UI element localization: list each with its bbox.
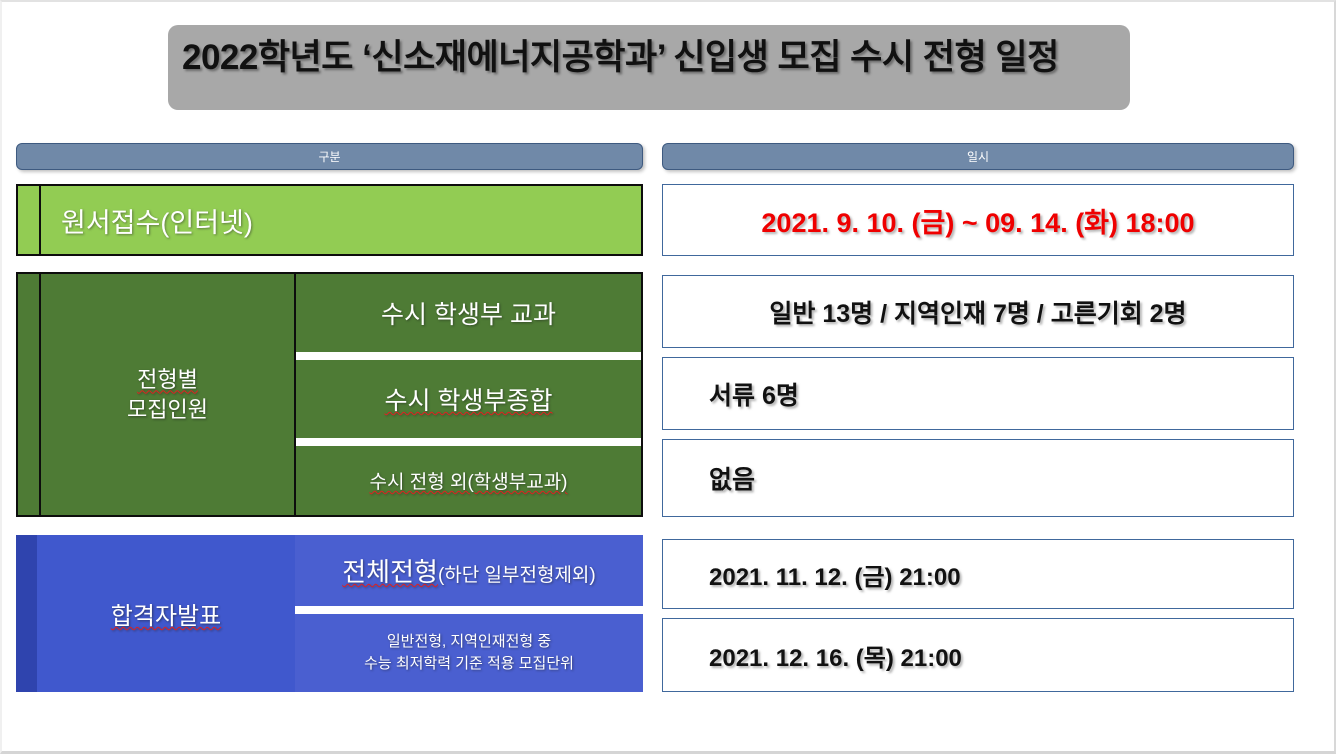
column-header-category: 구분: [16, 143, 643, 170]
slide-title-box: 2022학년도 ‘신소재에너지공학과’ 신입생 모집 수시 전형 일정: [168, 25, 1130, 110]
subrow-quota-susi-jonghap: 수시 학생부종합: [296, 360, 641, 438]
section-application-strip: [18, 186, 41, 254]
subrow-quota-susi-gyogwa: 수시 학생부 교과: [296, 274, 641, 352]
subrow-announce-all-label-note: (하단 일부전형제외): [438, 565, 596, 586]
value-quota-susi-jonghap-text: 서류 6명: [709, 376, 799, 412]
value-quota-susi-gyogwa-text: 일반 13명 / 지역인재 7명 / 고른기회 2명: [769, 294, 1186, 330]
section-announcement-subrows: 전체전형(하단 일부전형제외) 일반전형, 지역인재전형 중 수능 최저학력 기…: [295, 535, 643, 692]
subrow-announce-minimum-csat-line2: 수능 최저학력 기준 적용 모집단위: [364, 653, 574, 675]
column-header-datetime-label: 일시: [967, 148, 989, 165]
section-quota: 전형별 모집인원 수시 학생부 교과 수시 학생부종합 수시 전형 외(학생부교…: [16, 272, 643, 517]
subrow-quota-susi-gyogwa-label: 수시 학생부 교과: [381, 295, 556, 331]
section-announcement-label-text: 합격자발표: [111, 596, 221, 631]
value-announce-all: 2021. 11. 12. (금) 21:00: [662, 539, 1294, 609]
subrow-divider: [296, 352, 641, 360]
section-announcement-label: 합격자발표: [37, 535, 295, 692]
section-quota-strip: [18, 274, 41, 515]
subrow-announce-minimum-csat: 일반전형, 지역인재전형 중 수능 최저학력 기준 적용 모집단위: [295, 614, 643, 692]
subrow-announce-all: 전체전형(하단 일부전형제외): [295, 535, 643, 606]
column-header-datetime: 일시: [662, 143, 1294, 170]
subrow-quota-susi-other-label: 수시 전형 외(학생부교과): [369, 467, 567, 494]
section-quota-label: 전형별 모집인원: [41, 274, 296, 515]
subrow-divider: [296, 438, 641, 446]
value-announce-minimum-csat: 2021. 12. 16. (목) 21:00: [662, 618, 1294, 692]
subrow-quota-susi-other: 수시 전형 외(학생부교과): [296, 446, 641, 515]
section-announcement: 합격자발표 전체전형(하단 일부전형제외) 일반전형, 지역인재전형 중 수능 …: [16, 535, 643, 692]
page-title: 2022학년도 ‘신소재에너지공학과’ 신입생 모집 수시 전형 일정: [168, 36, 1059, 80]
subrow-announce-all-label-main: 전체전형: [342, 557, 438, 587]
value-application-period: 2021. 9. 10. (금) ~ 09. 14. (화) 18:00: [662, 184, 1294, 256]
section-quota-label-line1: 전형별: [127, 365, 208, 394]
subrow-divider: [295, 606, 643, 614]
value-application-period-text: 2021. 9. 10. (금) ~ 09. 14. (화) 18:00: [761, 201, 1194, 240]
section-quota-label-line2: 모집인원: [127, 395, 208, 424]
subrow-announce-minimum-csat-line1: 일반전형, 지역인재전형 중: [364, 631, 574, 653]
value-announce-minimum-csat-text: 2021. 12. 16. (목) 21:00: [709, 638, 962, 673]
section-application-label: 원서접수(인터넷): [41, 186, 641, 254]
value-quota-susi-gyogwa: 일반 13명 / 지역인재 7명 / 고른기회 2명: [662, 275, 1294, 348]
section-quota-subrows: 수시 학생부 교과 수시 학생부종합 수시 전형 외(학생부교과): [296, 274, 641, 515]
column-header-category-label: 구분: [318, 148, 340, 165]
section-application: 원서접수(인터넷): [16, 184, 643, 256]
value-quota-susi-jonghap: 서류 6명: [662, 357, 1294, 430]
value-announce-all-text: 2021. 11. 12. (금) 21:00: [709, 557, 961, 592]
slide-canvas: 2022학년도 ‘신소재에너지공학과’ 신입생 모집 수시 전형 일정 구분 일…: [0, 0, 1336, 754]
value-quota-susi-other-text: 없음: [709, 460, 755, 496]
subrow-quota-susi-jonghap-label: 수시 학생부종합: [385, 381, 553, 417]
section-announcement-strip: [16, 535, 37, 692]
value-quota-susi-other: 없음: [662, 439, 1294, 517]
